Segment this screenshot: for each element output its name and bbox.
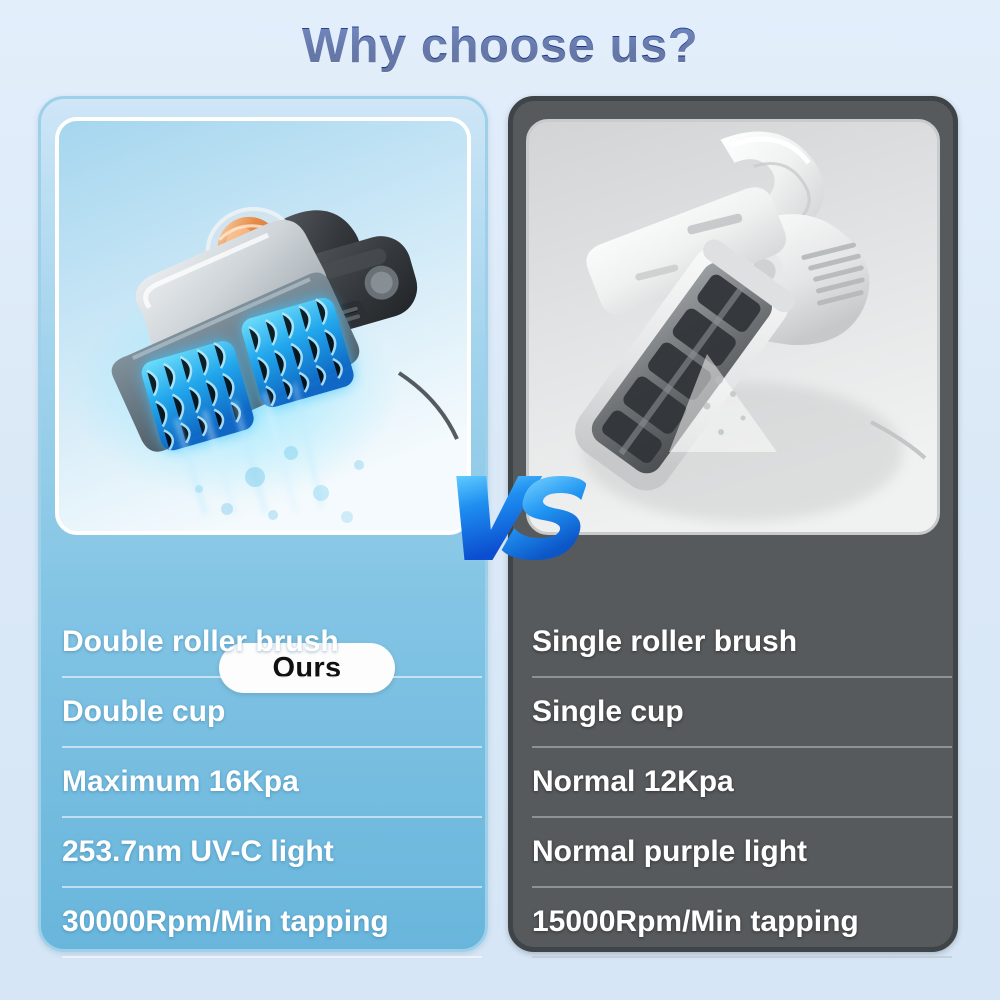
- feature-row: Maximum 16Kpa: [62, 748, 482, 818]
- feature-row: Single roller brush: [532, 608, 952, 678]
- vacuum-ours-illustration: [59, 121, 467, 531]
- feature-row: 253.7nm UV-C light: [62, 818, 482, 888]
- feature-row: Double roller brush: [62, 608, 482, 678]
- feature-list-ours: Double roller brush Double cup Maximum 1…: [62, 608, 482, 958]
- product-image-ours: [55, 117, 471, 535]
- feature-row: 15000Rpm/Min tapping: [532, 888, 952, 958]
- feature-list-others: Single roller brush Single cup Normal 12…: [532, 608, 952, 958]
- feature-row: Double cup: [62, 678, 482, 748]
- feature-row: Normal purple light: [532, 818, 952, 888]
- page-title: Why choose us?: [0, 18, 1000, 74]
- feature-row: Normal 12Kpa: [532, 748, 952, 818]
- infographic-page: Why choose us?: [0, 0, 1000, 1000]
- feature-row: 30000Rpm/Min tapping: [62, 888, 482, 958]
- vacuum-others-illustration: [529, 122, 937, 532]
- product-image-others: [526, 119, 940, 535]
- feature-row: Single cup: [532, 678, 952, 748]
